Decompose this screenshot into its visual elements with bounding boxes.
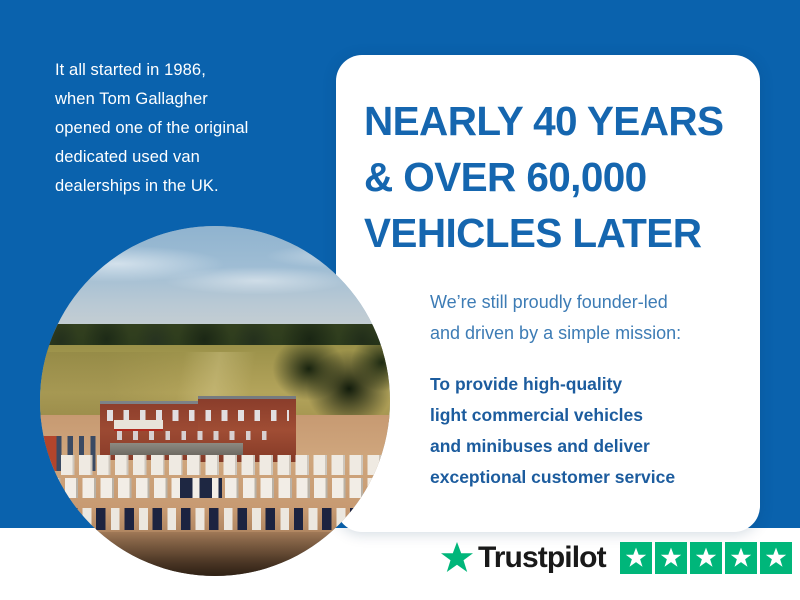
star-icon — [730, 547, 752, 568]
star-icon — [695, 547, 717, 568]
photo-building-windows-lower — [117, 431, 278, 440]
star-tile-2 — [655, 542, 687, 574]
photo-canopy — [110, 443, 243, 455]
star-rating — [620, 542, 792, 574]
photo-building-sign — [114, 420, 163, 430]
dealership-photo — [40, 226, 390, 576]
promo-banner: It all started in 1986, when Tom Gallagh… — [0, 0, 800, 600]
photo-building-windows-upper — [107, 410, 289, 421]
star-icon — [660, 547, 682, 568]
star-icon — [625, 547, 647, 568]
photo-clouds — [40, 233, 390, 310]
star-tile-4 — [725, 542, 757, 574]
photo-van-row-3 — [68, 508, 362, 530]
page-title: NEARLY 40 YEARS & OVER 60,000 VEHICLES L… — [364, 93, 736, 261]
star-tile-1 — [620, 542, 652, 574]
subtitle-paragraph: We’re still proudly founder-led and driv… — [430, 287, 730, 349]
intro-paragraph: It all started in 1986, when Tom Gallagh… — [55, 56, 317, 201]
photo-van-row-1 — [61, 455, 383, 475]
mission-statement: To provide high-quality light commercial… — [430, 369, 730, 493]
trustpilot-rating[interactable]: Trustpilot — [440, 541, 792, 574]
trustpilot-star-icon — [440, 541, 474, 574]
trustpilot-wordmark: Trustpilot — [478, 543, 606, 573]
star-tile-5 — [760, 542, 792, 574]
trustpilot-logo[interactable]: Trustpilot — [440, 541, 606, 574]
photo-foreground-shadow — [40, 532, 390, 576]
photo-van-row-2-dark — [180, 478, 222, 498]
star-tile-3 — [690, 542, 722, 574]
star-icon — [765, 547, 787, 568]
